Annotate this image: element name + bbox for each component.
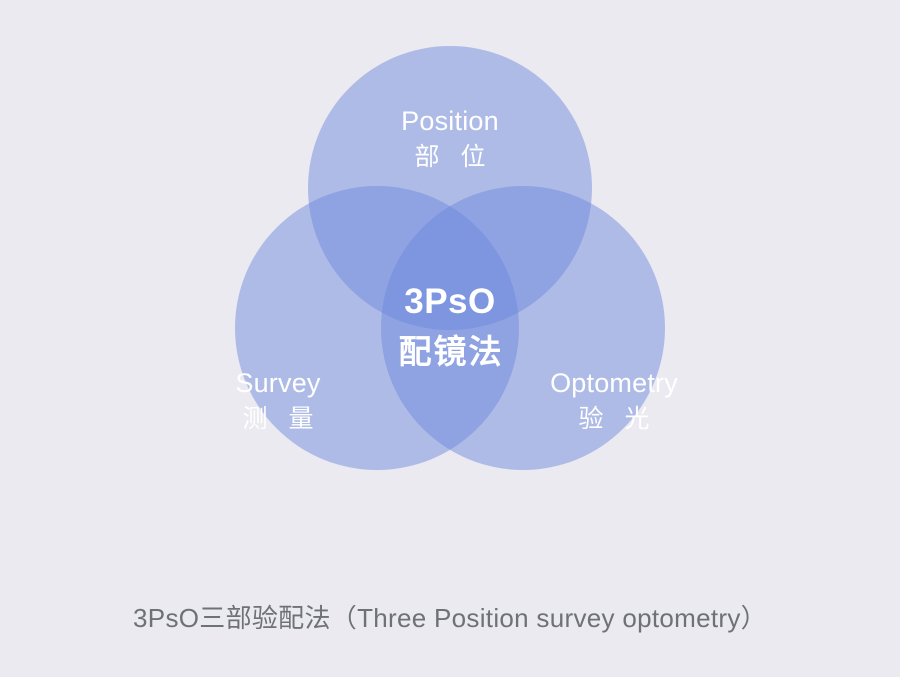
venn-center-label-zh: 配镜法 bbox=[397, 325, 504, 373]
venn-diagram: Position 部 位 Survey 测 量 Optometry 验 光 3P… bbox=[0, 0, 900, 677]
venn-label-optometry-en: Optometry bbox=[550, 368, 678, 400]
venn-label-position-zh: 部 位 bbox=[401, 143, 499, 173]
venn-label-optometry-zh: 验 光 bbox=[550, 405, 678, 435]
venn-label-survey: Survey 测 量 bbox=[235, 368, 320, 434]
venn-label-position: Position 部 位 bbox=[401, 106, 499, 172]
venn-center-label: 3PsO 配镜法 bbox=[397, 282, 504, 373]
venn-label-survey-zh: 测 量 bbox=[235, 405, 320, 435]
diagram-caption: 3PsO三部验配法（Three Position survey optometr… bbox=[0, 598, 900, 635]
venn-label-survey-en: Survey bbox=[235, 368, 320, 400]
venn-label-optometry: Optometry 验 光 bbox=[550, 368, 678, 434]
venn-label-position-en: Position bbox=[401, 106, 499, 138]
venn-center-label-en: 3PsO bbox=[397, 282, 504, 322]
